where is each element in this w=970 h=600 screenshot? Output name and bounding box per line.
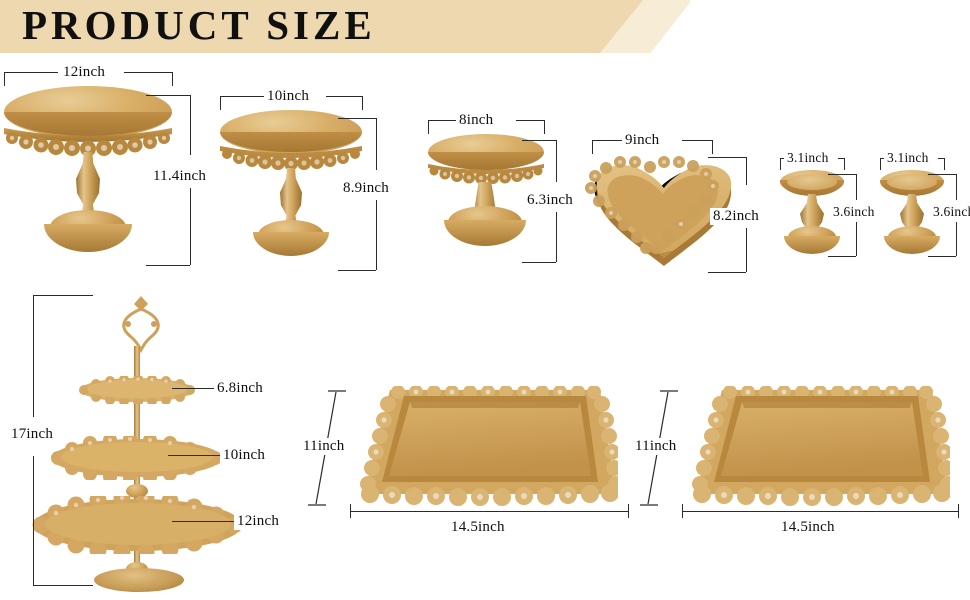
stand10-height-line-a <box>376 118 377 170</box>
candle-b-width-tick-left <box>880 158 881 170</box>
stand10-width-label: 10inch <box>264 88 312 105</box>
candle-a-width-label: 3.1inch <box>784 150 832 166</box>
stand12-height-line-b <box>190 188 191 265</box>
tier-total-tick-top <box>33 295 93 296</box>
heart-depth-label: 8.2inch <box>710 208 762 225</box>
heart-width-tick-right <box>712 140 713 154</box>
heart-depth-tick-bottom <box>708 272 746 273</box>
stand10-base-lower <box>253 232 329 256</box>
tier-stand-plate-middle <box>50 436 225 485</box>
tier-stand-base <box>94 568 184 592</box>
stand12-base-lower <box>44 224 132 252</box>
tier-total-tick-bottom <box>33 585 93 586</box>
stand12-height-tick-top <box>146 95 190 96</box>
candle-b-well <box>887 174 937 190</box>
candle-b-height-label: 3.6inch <box>930 204 970 220</box>
candle-a-base-lower <box>784 236 840 254</box>
tier-bottom-label: 12inch <box>234 513 282 530</box>
product-cake-stand-8: 8inch 6.3inch <box>404 110 569 280</box>
stand8-width-label: 8inch <box>456 112 496 129</box>
stand10-width-line-b <box>326 96 363 97</box>
candle-a-width-tick-right <box>844 158 845 170</box>
rect-tray-b-width-label: 14.5inch <box>778 519 838 536</box>
stand10-height-line-b <box>376 200 377 270</box>
heart-width-line-a <box>592 140 622 141</box>
heart-width-line-b <box>682 140 713 141</box>
stand12-height-tick-bottom <box>146 265 190 266</box>
heart-depth-line-b <box>746 228 747 272</box>
tier-top-leader <box>172 388 214 389</box>
heart-width-tick-left <box>592 140 593 154</box>
candle-a-height-tick-top <box>828 174 856 175</box>
stand12-width-tick-left <box>4 72 5 86</box>
stand8-width-line-b <box>516 120 545 121</box>
product-candle-stand-b: 3.1inch 3.6inch <box>868 148 968 278</box>
candle-b-width-tick-right <box>944 158 945 170</box>
stand10-height-tick-top <box>338 118 376 119</box>
stand12-width-tick-right <box>172 72 173 86</box>
stand12-width-line-a <box>4 72 58 73</box>
tier-total-line-b <box>33 456 34 585</box>
candle-b-width-label: 3.1inch <box>884 150 932 166</box>
candle-b-height-tick-bottom <box>928 256 956 257</box>
product-three-tier-stand: 17inch 6.8inch 10inch 12inch <box>0 288 330 600</box>
candle-a-width-line-b <box>838 158 845 159</box>
stand10-width-line-a <box>220 96 264 97</box>
product-rect-tray-b: 11inch 14.5inch <box>632 386 970 546</box>
stand10-stem <box>280 168 302 226</box>
page-title: PRODUCT SIZE <box>22 0 376 53</box>
stand8-width-tick-left <box>428 120 429 134</box>
heart-depth-tick-top <box>708 157 746 158</box>
stand12-height-line-a <box>190 95 191 155</box>
product-candle-stand-a: 3.1inch 3.6inch <box>766 148 866 278</box>
stand12-width-label: 12inch <box>60 64 108 81</box>
candle-a-height-line-b <box>856 222 857 256</box>
stand8-height-line-a <box>556 140 557 182</box>
product-heart-tray: 9inch 8.2inch <box>572 132 767 282</box>
product-size-infographic: PRODUCT SIZE <box>0 0 970 600</box>
tier-total-height-label: 17inch <box>8 426 56 443</box>
rect-tray-a-width-line <box>350 511 629 512</box>
tier-bottom-leader <box>172 521 234 522</box>
stand8-height-tick-top <box>522 140 556 141</box>
tier-stand-plate-bottom <box>32 496 244 559</box>
candle-b-width-line-b <box>938 158 945 159</box>
stand12-width-line-b <box>124 72 173 73</box>
product-cake-stand-12: 12inch 11.4inch <box>0 60 200 280</box>
candle-a-well <box>787 174 837 190</box>
stand12-stem <box>76 152 100 216</box>
tier-total-line-a <box>33 295 34 417</box>
rect-tray-b-shape <box>680 386 950 511</box>
product-cake-stand-10: 10inch 8.9inch <box>208 88 393 283</box>
stand8-width-line-a <box>428 120 456 121</box>
product-rect-tray-a: 11inch 14.5inch <box>300 386 640 546</box>
candle-b-height-line-b <box>956 222 957 256</box>
header-banner: PRODUCT SIZE <box>0 0 690 53</box>
tier-top-label: 6.8inch <box>214 380 266 397</box>
heart-width-label: 9inch <box>622 132 662 149</box>
rect-tray-a-depth-label: 11inch <box>300 438 347 455</box>
candle-a-height-tick-bottom <box>828 256 856 257</box>
candle-a-width-tick-left <box>780 158 781 170</box>
candle-b-height-line-a <box>956 174 957 200</box>
stand8-height-tick-bottom <box>522 262 556 263</box>
stand10-width-tick-left <box>220 96 221 110</box>
rect-tray-b-width-line <box>682 511 959 512</box>
tier-stand-handle <box>106 292 176 362</box>
rect-tray-a-width-label: 14.5inch <box>448 519 508 536</box>
heart-depth-line-a <box>746 157 747 185</box>
tier-middle-leader <box>168 455 220 456</box>
stand8-height-line-b <box>556 212 557 262</box>
stand10-height-label: 8.9inch <box>340 180 392 197</box>
rect-tray-b-depth-label: 11inch <box>632 438 679 455</box>
tier-stand-plate-top <box>78 376 196 409</box>
candle-b-height-tick-top <box>928 174 956 175</box>
stand12-height-label: 11.4inch <box>150 168 209 185</box>
candle-a-height-line-a <box>856 174 857 200</box>
stand10-width-tick-right <box>362 96 363 110</box>
stand8-base-lower <box>444 220 526 246</box>
tier-middle-label: 10inch <box>220 447 268 464</box>
stand8-height-label: 6.3inch <box>524 192 576 209</box>
candle-b-base-lower <box>884 236 940 254</box>
stand10-height-tick-bottom <box>338 270 376 271</box>
rect-tray-a-shape <box>348 386 618 511</box>
stand8-width-tick-right <box>544 120 545 134</box>
